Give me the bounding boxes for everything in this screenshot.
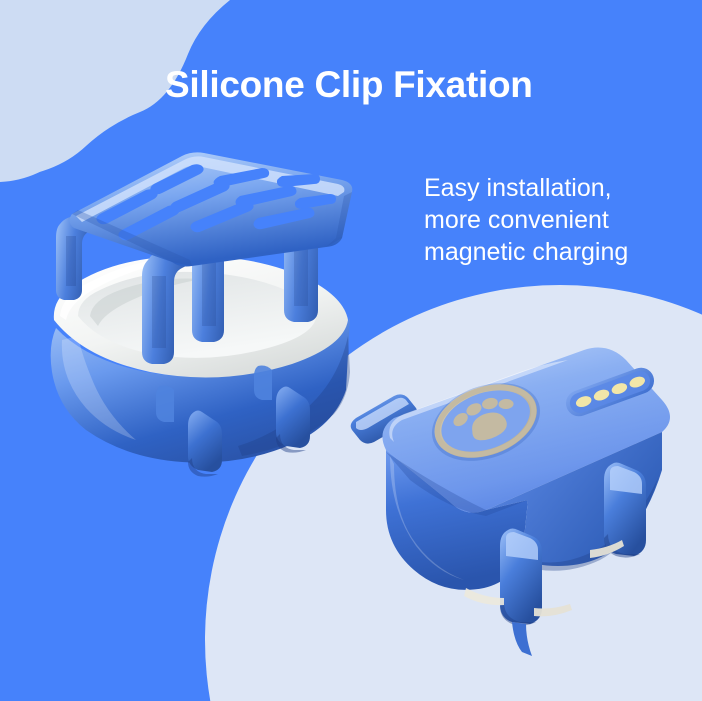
collar-body [382,348,670,590]
page-subtitle: Easy installation, more convenient magne… [424,172,684,268]
holder-hook-clips [156,366,310,477]
holder-base [51,318,350,463]
holder-white-bowl [54,256,348,378]
collar-rear-clips [351,361,612,444]
subtitle-line-2: more convenient [424,204,684,236]
bottom-right-circle-shape [205,285,702,701]
holder-lattice-top [69,152,352,266]
page-title: Silicone Clip Fixation [165,64,533,106]
subtitle-line-1: Easy installation, [424,172,684,204]
magnetic-collar-unit-image [290,360,702,660]
led-indicator-strip [562,364,657,420]
holder-side-straps [56,196,338,364]
collar-front-clips [464,463,646,657]
product-promo-image: Silicone Clip Fixation Easy installation… [0,0,702,701]
subtitle-line-3: magnetic charging [424,236,684,268]
lattice-slot [96,189,157,224]
led-dot [574,375,646,409]
paw-print-emblem [421,369,551,475]
silicone-clip-holder-image [42,140,382,500]
